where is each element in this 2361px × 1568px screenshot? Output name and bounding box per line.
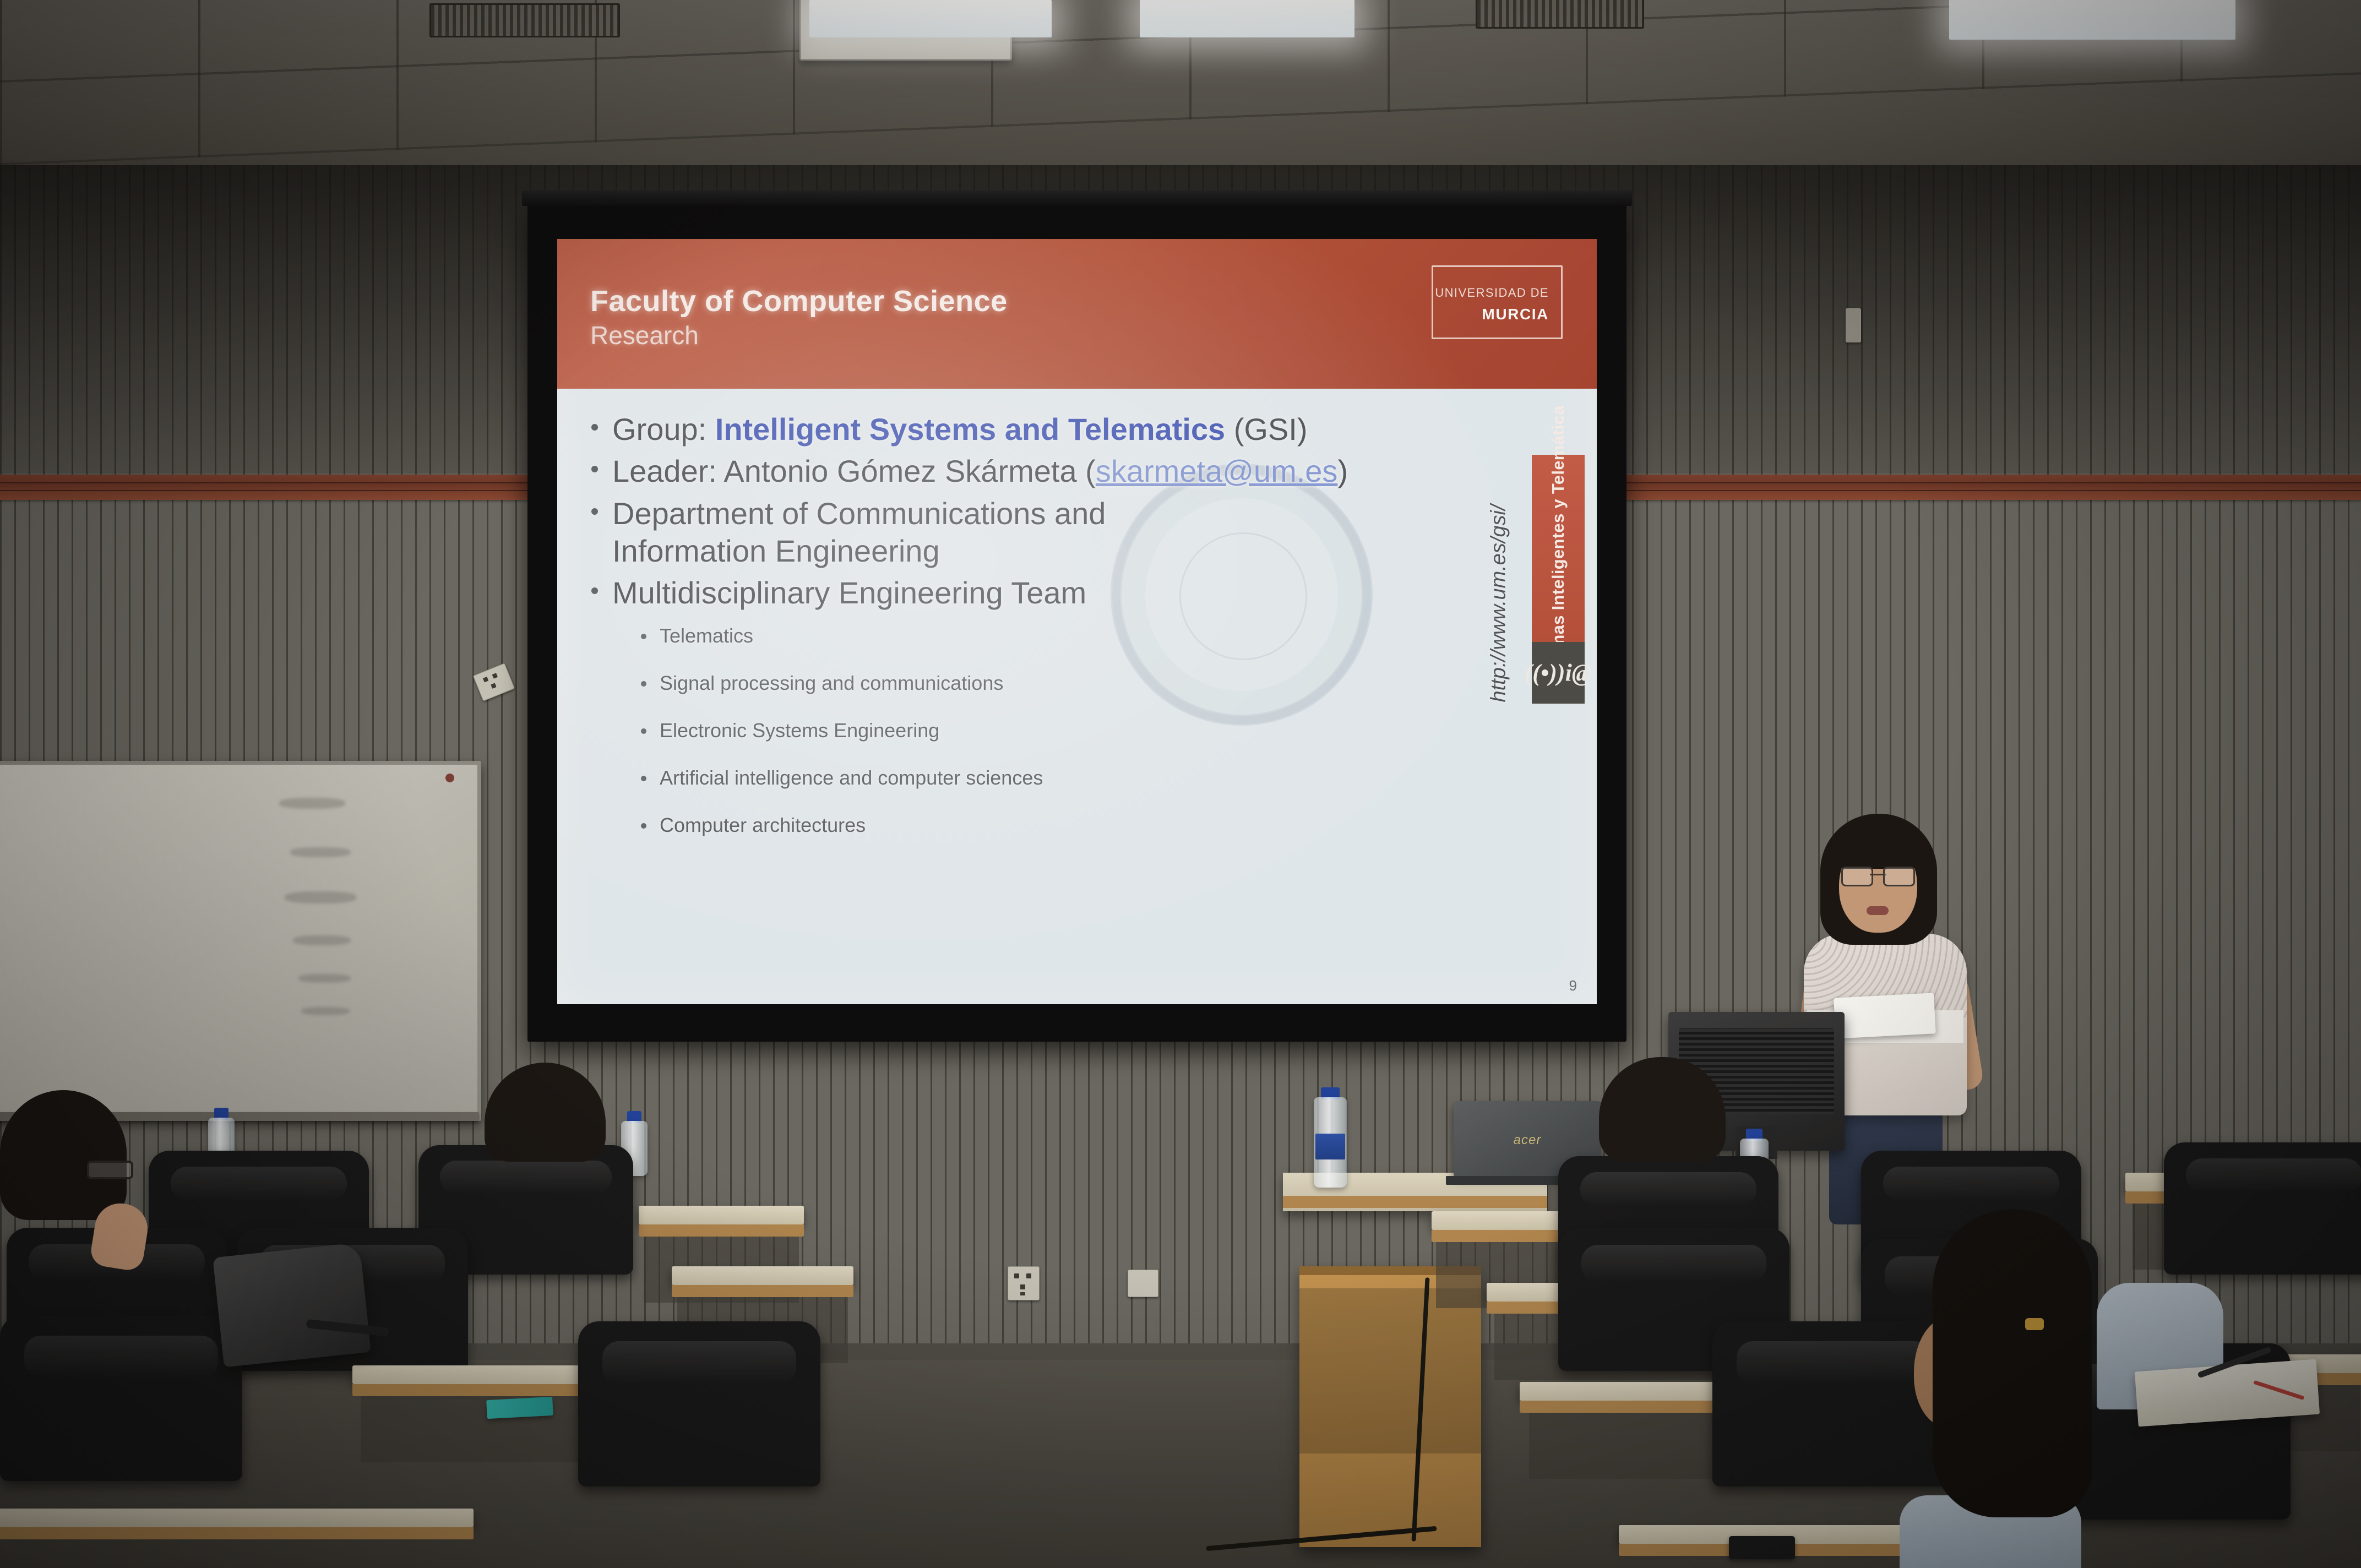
- screen-roller-case: [522, 190, 1632, 206]
- bullet-group-highlight: Intelligent Systems and Telematics: [715, 412, 1225, 447]
- whiteboard: [0, 761, 481, 1121]
- bullet-group-prefix: Group:: [612, 412, 715, 447]
- sub-bullet-telematics: Telematics: [633, 624, 1283, 647]
- student-mid-left: [485, 1063, 606, 1162]
- desk-bottom-left: [0, 1509, 474, 1568]
- presentation-slide: Faculty of Computer Science Research UNI…: [557, 239, 1597, 1004]
- bullet-item-leader: Leader: Antonio Gómez Skármeta (skarmeta…: [580, 453, 1406, 490]
- laptop-bag: [213, 1243, 371, 1368]
- chair-front-left[interactable]: [0, 1316, 242, 1481]
- ceiling-vent-icon: [429, 3, 620, 37]
- presenter-mouth: [1867, 906, 1889, 915]
- ceiling-light-1: [809, 0, 1052, 37]
- slide-header: Faculty of Computer Science Research UNI…: [557, 239, 1597, 389]
- power-outlet-right: [1128, 1270, 1158, 1297]
- bullet-item-group: Group: Intelligent Systems and Telematic…: [580, 411, 1406, 448]
- student-center-right: [1599, 1057, 1726, 1162]
- chair-front-left2[interactable]: [578, 1321, 820, 1487]
- leader-email-link[interactable]: skarmeta@um.es: [1096, 454, 1338, 488]
- bullet-group-suffix: (GSI): [1225, 412, 1307, 447]
- power-outlet-center: [1008, 1266, 1040, 1300]
- gsi-website-url: http://www.um.es/gsi/: [1482, 466, 1515, 741]
- sub-bullet-signal-processing: Signal processing and communications: [633, 672, 1283, 695]
- bullet-item-team: Multidisciplinary Engineering Team: [580, 574, 1406, 612]
- slide-subtitle: Research: [590, 320, 699, 350]
- sub-bullet-electronic-systems: Electronic Systems Engineering: [633, 719, 1283, 742]
- bookmark-ribbon: [2253, 1380, 2304, 1400]
- gsi-group-banner: Sistemas Inteligentes y Telemática: [1532, 455, 1585, 642]
- wall-sensor: [1846, 308, 1861, 342]
- ceiling: [0, 0, 2361, 165]
- presenter-papers: [1834, 993, 1936, 1038]
- sub-bullet-artificial-intelligence: Artificial intelligence and computer sci…: [633, 766, 1283, 790]
- presenter-glasses-icon: [1841, 867, 1915, 883]
- student-front-left: [0, 1090, 165, 1277]
- slide-bullet-list: Group: Intelligent Systems and Telematic…: [580, 411, 1406, 617]
- teal-card-item: [486, 1397, 553, 1419]
- ceiling-light-2: [1140, 0, 1354, 37]
- student-ponytail: [1933, 1209, 2092, 1517]
- podium-cabinet: [1299, 1266, 1481, 1547]
- sub-bullet-computer-architectures: Computer architectures: [633, 814, 1283, 837]
- hair-clip-icon: [2025, 1318, 2044, 1330]
- university-logo-line1: UNIVERSIDAD DE: [1435, 286, 1549, 300]
- ceiling-light-3: [1949, 0, 2235, 40]
- bullet-leader-suffix: ): [1337, 454, 1348, 488]
- student-glasses-icon: [87, 1161, 133, 1179]
- lecture-hall-photo: Faculty of Computer Science Research UNI…: [0, 0, 2361, 1568]
- slide-number: 9: [1569, 977, 1577, 994]
- slide-title: Faculty of Computer Science: [590, 284, 1008, 318]
- projection-screen: Faculty of Computer Science Research UNI…: [527, 205, 1626, 1042]
- smartphone: [1729, 1536, 1795, 1559]
- ceiling-vent-2-icon: [1476, 0, 1644, 29]
- bullet-leader-prefix: Leader: Antonio Gómez Skármeta (: [612, 454, 1096, 488]
- presenter-fringe: [1835, 832, 1923, 869]
- gsi-logo-icon: ((•))i@: [1532, 642, 1585, 704]
- laptop-brand-label: acer: [1514, 1133, 1542, 1148]
- bullet-item-department: Department of Communications and Informa…: [580, 495, 1406, 570]
- whiteboard-magnet-icon: [445, 774, 454, 782]
- bullet-team-text: Multidisciplinary Engineering Team: [612, 574, 1406, 612]
- slide-sub-bullet-list: Telematics Signal processing and communi…: [633, 624, 1283, 861]
- water-bottle-podium: [1314, 1087, 1347, 1188]
- bullet-department-text: Department of Communications and Informa…: [612, 495, 1262, 570]
- student-front-right: [1894, 1209, 2125, 1568]
- chair-back-far-right[interactable]: [2164, 1142, 2361, 1275]
- university-logo-box: UNIVERSIDAD DE MURCIA: [1432, 265, 1563, 339]
- university-logo-line2: MURCIA: [1482, 306, 1549, 323]
